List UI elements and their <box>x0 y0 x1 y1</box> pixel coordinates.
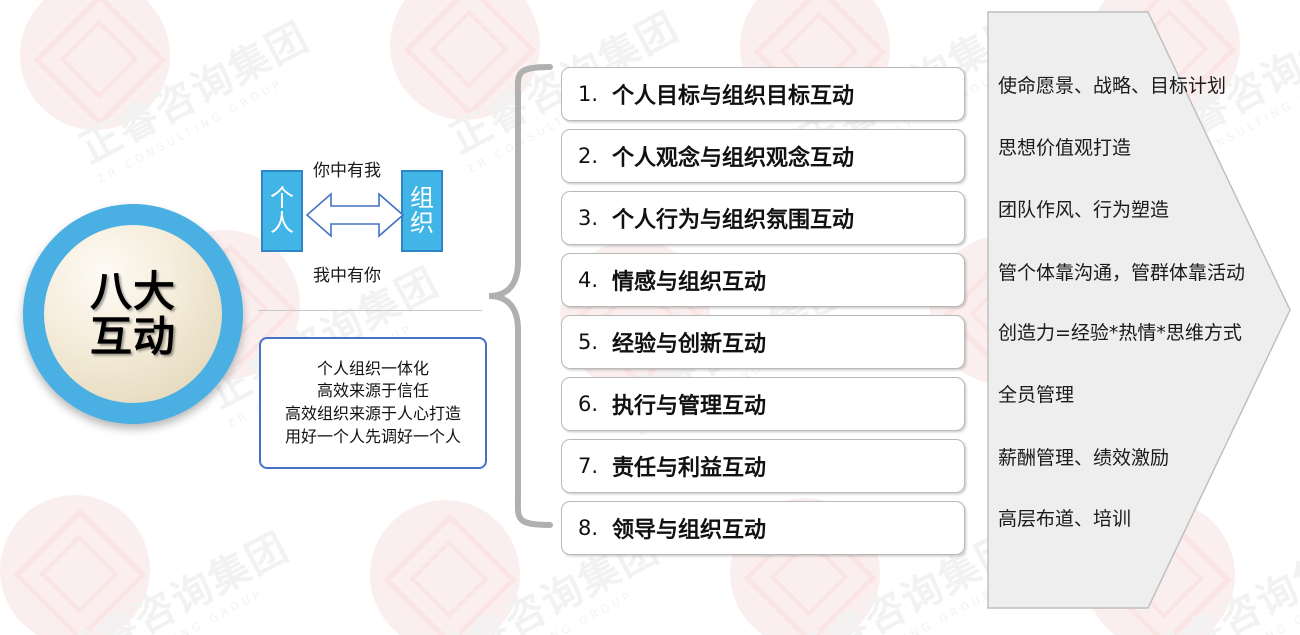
interaction-list: 1. 个人目标与组织目标互动 2. 个人观念与组织观念互动 3. 个人行为与组织… <box>561 67 965 563</box>
list-item-number: 4. <box>578 268 612 292</box>
note-label: 管个体靠沟通，管群体靠活动 <box>998 258 1245 285</box>
quote-line: 用好一个人先调好一个人 <box>285 426 461 449</box>
pair-label-top: 你中有我 <box>313 156 381 181</box>
hub-title-line1: 八大 <box>90 269 176 314</box>
list-item[interactable]: 5. 经验与创新互动 <box>561 315 965 369</box>
list-item[interactable]: 6. 执行与管理互动 <box>561 377 965 431</box>
org-box-char1: 组 <box>410 186 434 211</box>
list-item-label: 情感与组织互动 <box>612 264 766 296</box>
hub-circle-inner: 八大 互动 <box>44 225 222 403</box>
list-item[interactable]: 7. 责任与利益互动 <box>561 439 965 493</box>
watermark-text: 正睿咨询集团 ZR CONSULTING GROUP <box>68 5 324 186</box>
watermark-text-main: 正睿咨询集团 <box>53 524 297 635</box>
quote-line: 高效组织来源于人心打造 <box>285 403 461 426</box>
watermark-logo-icon <box>0 495 150 635</box>
note-label: 创造力=经验*热情*思维方式 <box>998 318 1242 345</box>
person-box: 个 人 <box>261 170 303 252</box>
list-item-label: 领导与组织互动 <box>612 512 766 544</box>
note-label: 全员管理 <box>998 380 1074 407</box>
quote-line: 高效来源于信任 <box>317 380 429 403</box>
org-box-char2: 织 <box>410 211 434 236</box>
watermark-text-sub: ZR CONSULTING GROUP <box>75 566 304 635</box>
list-item-number: 8. <box>578 516 612 540</box>
list-item[interactable]: 1. 个人目标与组织目标互动 <box>561 67 965 121</box>
watermark-text: 正睿咨询集团 ZR CONSULTING GROUP <box>48 515 304 635</box>
note-label: 使命愿景、战略、目标计划 <box>998 71 1226 98</box>
double-headed-arrow-icon <box>305 186 405 244</box>
list-item[interactable]: 8. 领导与组织互动 <box>561 501 965 555</box>
list-item-number: 7. <box>578 454 612 478</box>
list-item-number: 6. <box>578 392 612 416</box>
list-item-number: 2. <box>578 144 612 168</box>
note-label: 高层布道、培训 <box>998 504 1131 531</box>
list-item-number: 3. <box>578 206 612 230</box>
watermark-text-sub: ZR CONSULTING GROUP <box>445 568 674 635</box>
list-item[interactable]: 3. 个人行为与组织氛围互动 <box>561 191 965 245</box>
note-label: 薪酬管理、绩效激励 <box>998 443 1169 470</box>
list-item-label: 个人观念与组织观念互动 <box>612 140 854 172</box>
list-item-label: 执行与管理互动 <box>612 388 766 420</box>
list-item-number: 1. <box>578 82 612 106</box>
list-item-label: 经验与创新互动 <box>612 326 766 358</box>
note-label: 团队作风、行为塑造 <box>998 195 1169 222</box>
list-item-label: 个人行为与组织氛围互动 <box>612 202 854 234</box>
hub-circle: 八大 互动 <box>23 204 243 424</box>
watermark-text-sub: ZR CONSULTING GROUP <box>95 56 324 186</box>
watermark-logo-icon <box>20 0 170 130</box>
list-item-label: 责任与利益互动 <box>612 450 766 482</box>
list-item[interactable]: 4. 情感与组织互动 <box>561 253 965 307</box>
curly-brace-icon <box>484 62 556 530</box>
org-box: 组 织 <box>401 170 443 252</box>
divider-line <box>258 310 482 311</box>
quote-box: 个人组织一体化 高效来源于信任 高效组织来源于人心打造 用好一个人先调好一个人 <box>259 337 487 469</box>
person-box-char1: 个 <box>270 186 294 211</box>
note-label: 思想价值观打造 <box>998 133 1131 160</box>
list-item-label: 个人目标与组织目标互动 <box>612 78 854 110</box>
watermark-text-main: 正睿咨询集团 <box>73 14 317 173</box>
hub-title-line2: 互动 <box>90 314 176 359</box>
diagram-canvas: 正睿咨询集团 ZR CONSULTING GROUP 正睿咨询集团 ZR CON… <box>0 0 1300 635</box>
pair-label-bottom: 我中有你 <box>313 261 381 286</box>
quote-line: 个人组织一体化 <box>317 358 429 381</box>
list-item[interactable]: 2. 个人观念与组织观念互动 <box>561 129 965 183</box>
person-box-char2: 人 <box>270 211 294 236</box>
list-item-number: 5. <box>578 330 612 354</box>
